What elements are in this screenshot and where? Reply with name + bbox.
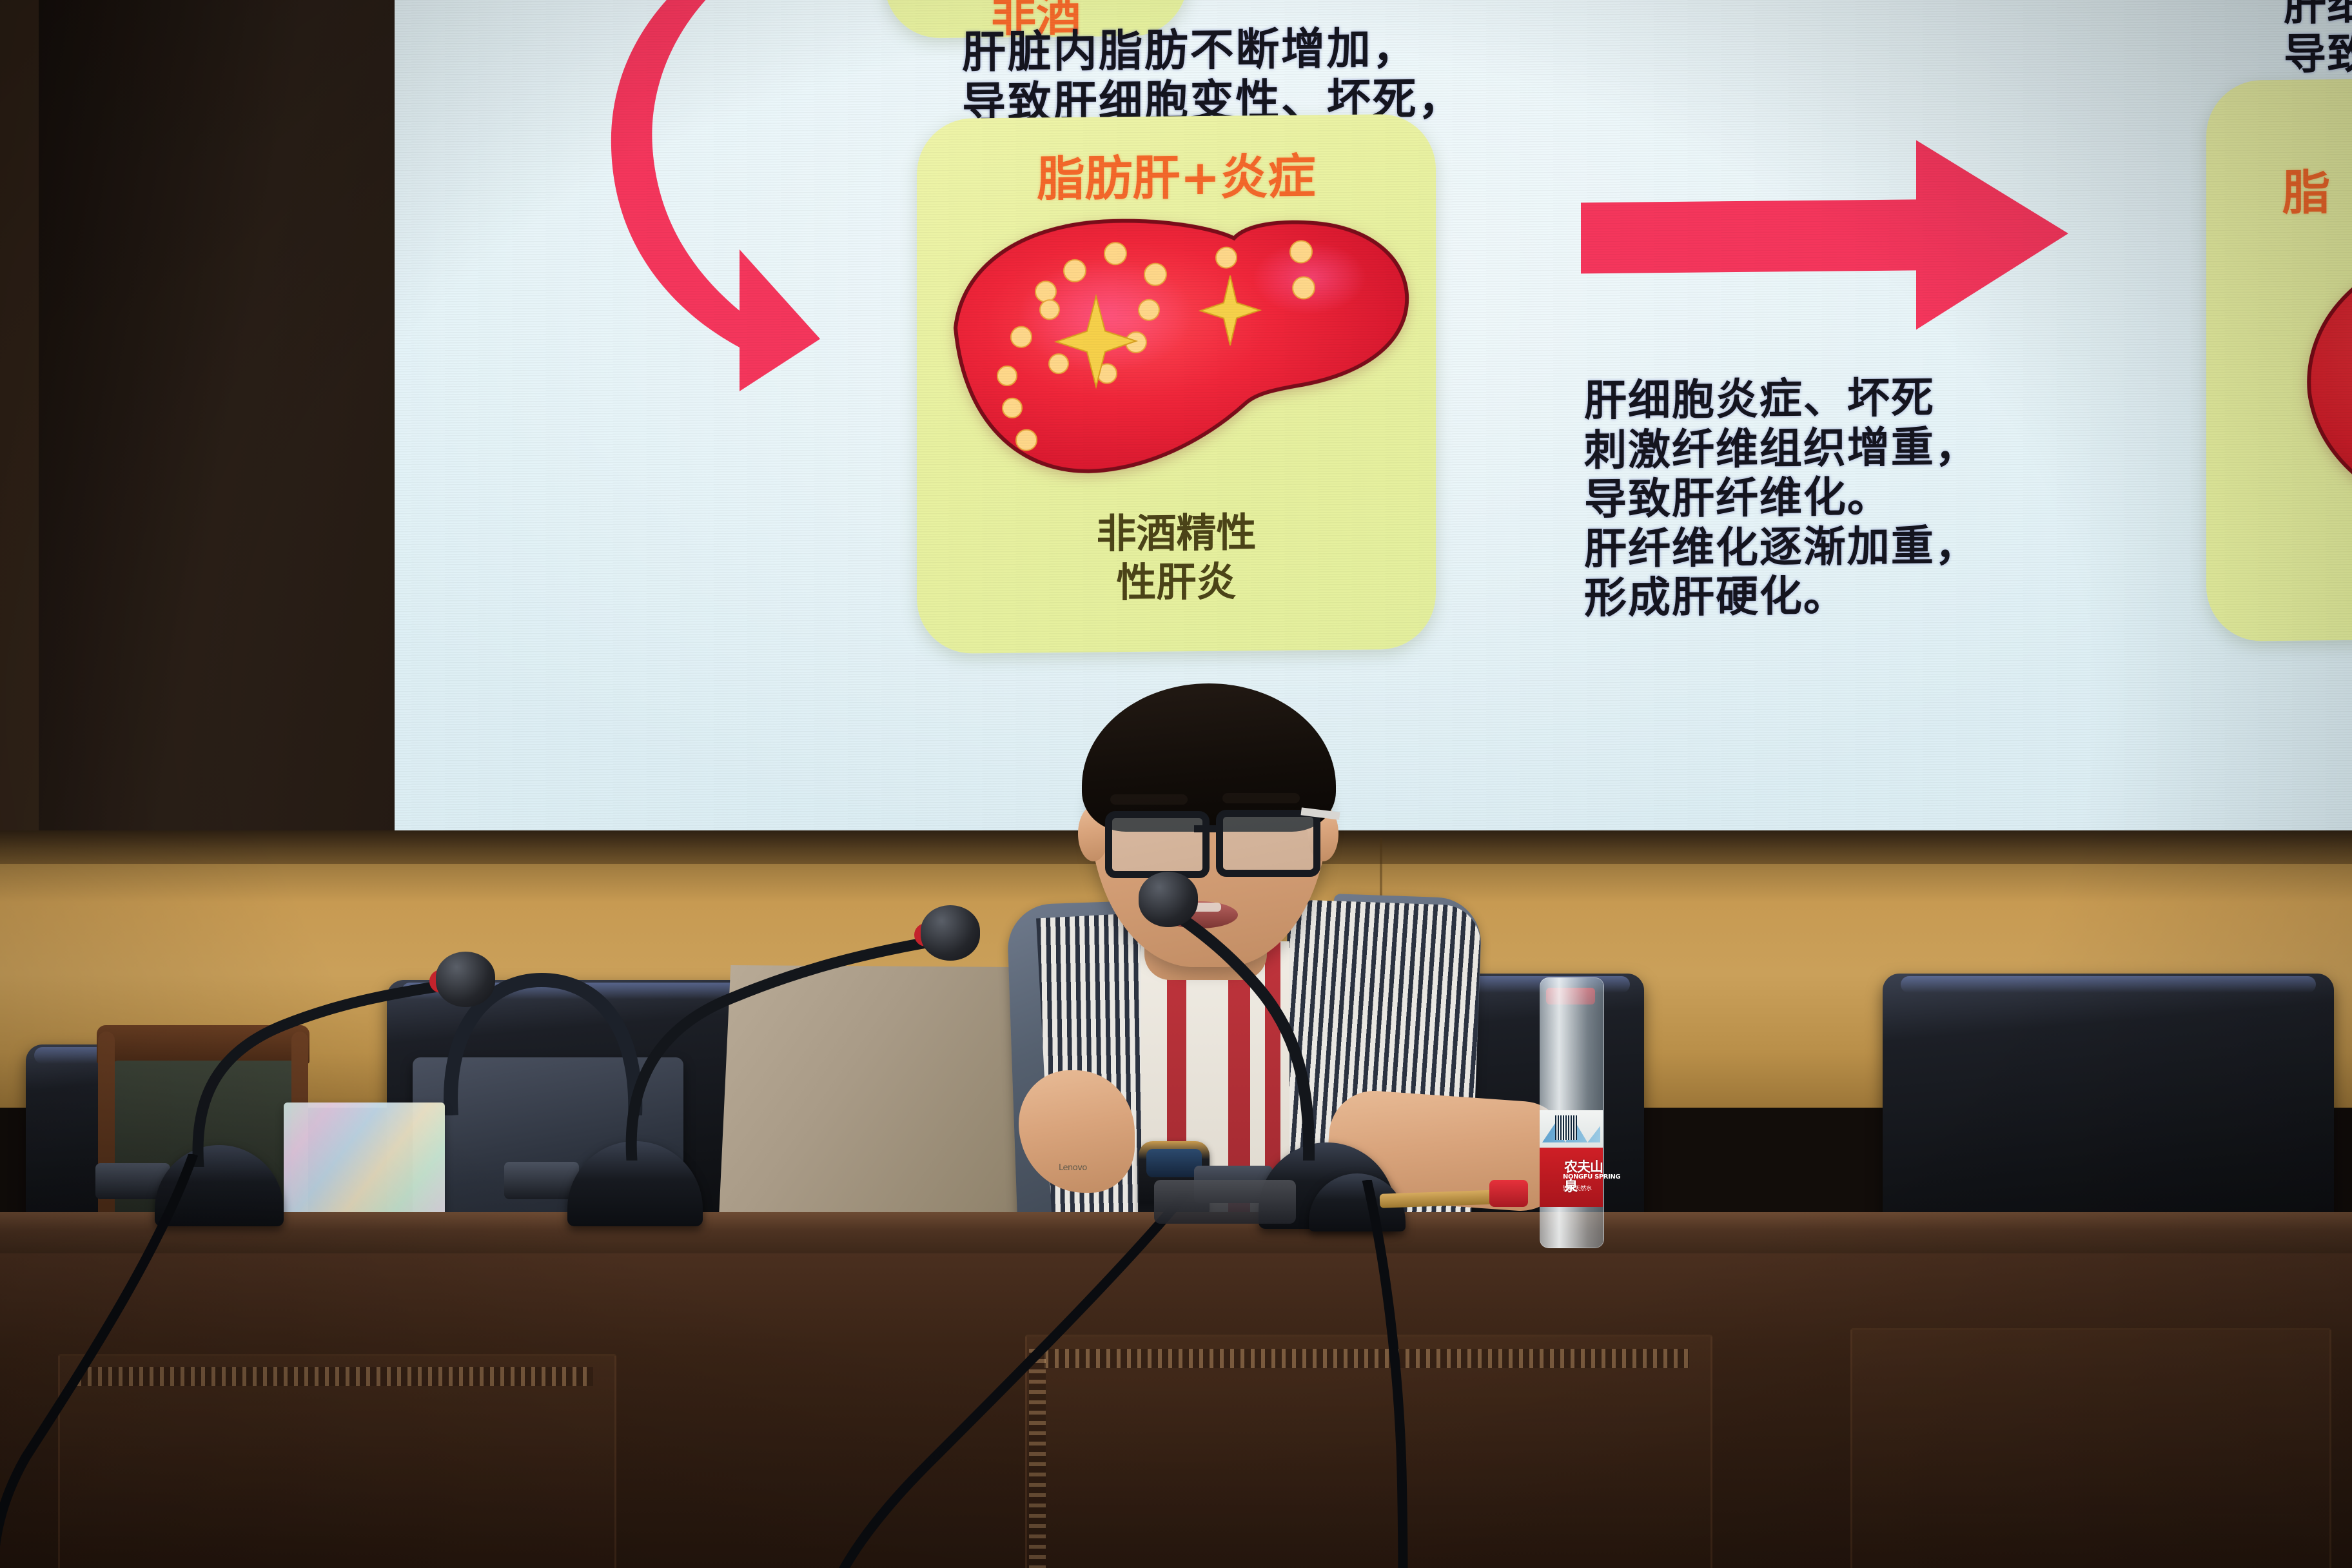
bottle-sub-text: 饮用天然水 [1563, 1184, 1614, 1192]
speaker-eyebrow-right [1222, 793, 1300, 803]
chair-right [1883, 974, 2334, 1244]
water-bottle: 农夫山泉 NONGFU SPRING 饮用天然水 [1527, 963, 1617, 1253]
glasses-left-lens [1105, 811, 1210, 878]
cable-right [1264, 1180, 1522, 1568]
glasses-right-lens [1216, 810, 1320, 877]
mic-3-head [1139, 872, 1198, 927]
left-wall-edge [0, 0, 39, 838]
mic-1-gooseneck [116, 954, 477, 1167]
speaker-eyebrow-left [1110, 794, 1188, 805]
left-dark-wall [0, 0, 413, 832]
mic-1-head [436, 952, 495, 1007]
desk-panel-right [1850, 1328, 2331, 1568]
mic-3-gooseneck [1148, 890, 1354, 1161]
projection-screen: 非酒 肝脏内脂肪不断增加， 导致肝细胞变性、坏死， 发生炎症反应。 脂肪肝+炎症 [395, 0, 2352, 859]
bottle-barcode [1555, 1115, 1577, 1140]
phone-on-desk [1154, 1180, 1296, 1224]
laptop-brand-text: Lenovo [1059, 1163, 1093, 1173]
mic-2-gooseneck [561, 922, 974, 1161]
cable-left [0, 1154, 580, 1568]
cable-center [774, 1193, 1225, 1568]
red-cap-item [1489, 1180, 1528, 1207]
screenshot-root: 非酒 肝脏内脂肪不断增加， 导致肝细胞变性、坏死， 发生炎症反应。 脂肪肝+炎症 [0, 0, 2352, 1568]
bottle-brand-latin-text: NONGFU SPRING [1563, 1173, 1621, 1181]
glasses-bridge [1194, 825, 1219, 832]
mic-2-head [921, 905, 980, 961]
